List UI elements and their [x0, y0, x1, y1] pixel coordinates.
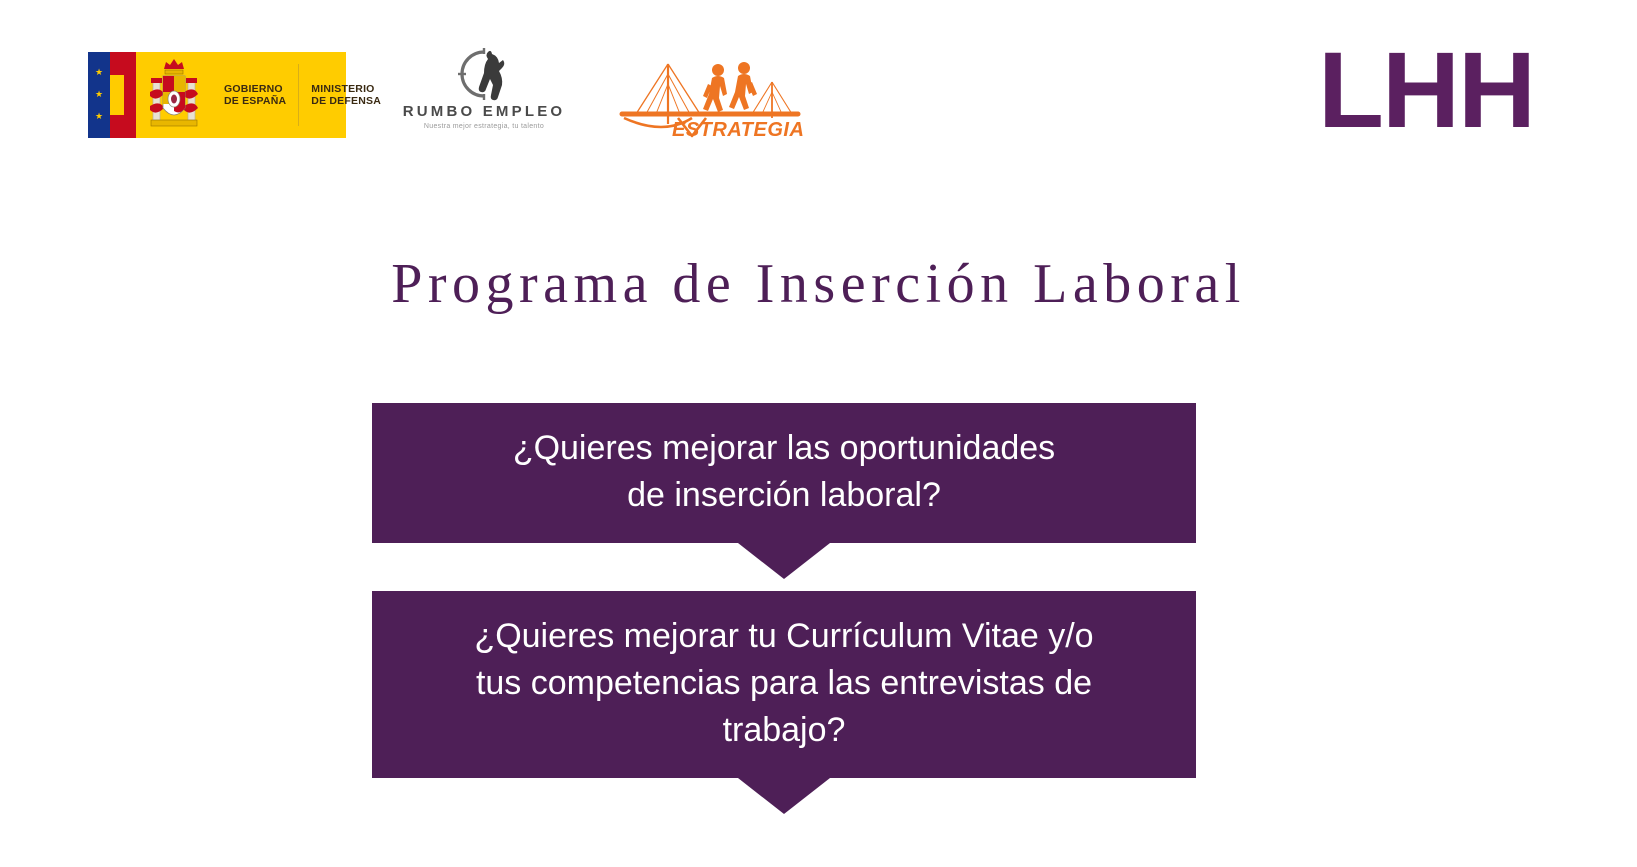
spain-flag-red-top — [110, 52, 124, 75]
flow-box-2-line-3: trabajo? — [402, 707, 1166, 754]
estrategia-wordmark: ESTRATEGIA — [672, 119, 804, 142]
page-title: Programa de Inserción Laboral — [0, 248, 1637, 320]
down-arrow-icon — [738, 543, 830, 579]
spain-flag-red-bottom — [110, 115, 124, 138]
ministerio-line2: DE DEFENSA — [311, 95, 381, 108]
spain-coat-of-arms-icon — [136, 52, 212, 138]
down-arrow-icon — [738, 778, 830, 814]
flow-box-2-line-2: tus competencias para las entrevistas de — [402, 660, 1166, 707]
estrategia-logo: ESTRATEGIA — [612, 52, 802, 144]
rumbo-empleo-logo: RUMBO EMPLEO Nuestra mejor estrategia, t… — [398, 46, 570, 142]
ministerio-line1: MINISTERIO — [311, 83, 381, 96]
rumbo-empleo-tagline: Nuestra mejor estrategia, tu talento — [398, 123, 570, 130]
rumbo-empleo-wordmark: RUMBO EMPLEO — [398, 103, 570, 120]
lhh-logo: LHH — [1318, 36, 1534, 144]
spain-flag-yellow — [110, 75, 124, 115]
flow-diagram: ¿Quieres mejorar las oportunidades de in… — [372, 403, 1196, 778]
gobierno-label: GOBIERNO DE ESPAÑA — [212, 83, 298, 108]
flow-box-1-line-1: ¿Quieres mejorar las oportunidades — [402, 425, 1166, 472]
eu-star-icon: ★ — [95, 68, 103, 76]
eu-star-icon: ★ — [95, 112, 103, 120]
flow-box-2-line-1: ¿Quieres mejorar tu Currículum Vitae y/o — [402, 613, 1166, 660]
spain-flag-red-right — [124, 52, 136, 138]
eu-flag-bar: ★ ★ ★ — [88, 52, 110, 138]
gobierno-de-espana-logo: ★ ★ ★ — [88, 52, 346, 138]
gobierno-line1: GOBIERNO — [224, 83, 286, 96]
ministerio-label: MINISTERIO DE DEFENSA — [299, 83, 393, 108]
gobierno-logo-text-wrap: GOBIERNO DE ESPAÑA MINISTERIO DE DEFENSA — [212, 52, 393, 138]
flow-box-question-2: ¿Quieres mejorar tu Currículum Vitae y/o… — [372, 591, 1196, 778]
flow-box-question-1: ¿Quieres mejorar las oportunidades de in… — [372, 403, 1196, 543]
spain-eu-flag-icon: ★ ★ ★ — [88, 52, 136, 138]
flow-box-1-line-2: de inserción laboral? — [402, 472, 1166, 519]
eu-star-icon: ★ — [95, 90, 103, 98]
compass-sailor-icon — [398, 46, 570, 102]
gobierno-line2: DE ESPAÑA — [224, 95, 286, 108]
logo-bar: ★ ★ ★ — [0, 0, 1637, 175]
